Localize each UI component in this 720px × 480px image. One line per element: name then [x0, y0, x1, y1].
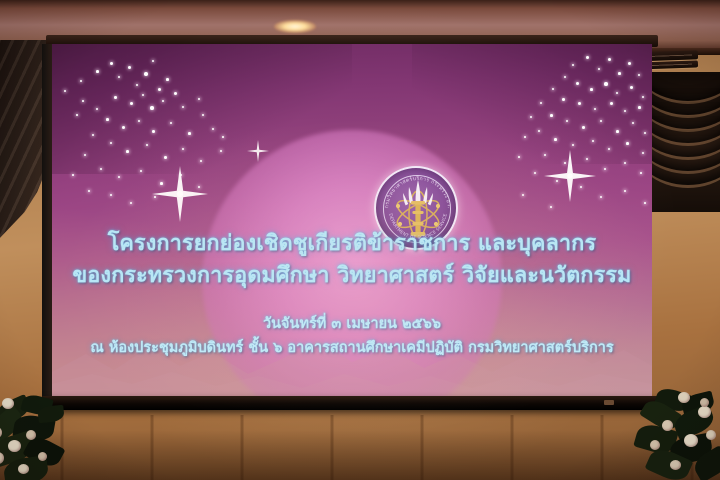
curtain-right: [644, 72, 720, 212]
slide-title-line-1: โครงการยกย่องเชิดชูเกียรติข้าราชการ และบ…: [52, 226, 652, 260]
slide-subtitle-venue: ณ ห้องประชุมภูมิบดินทร์ ชั้น ๖ อาคารสถาน…: [52, 336, 652, 359]
swag-fold-7: [644, 130, 720, 188]
big-star-right: [544, 150, 596, 202]
bouquet-right: [636, 390, 720, 480]
downlight-left: [274, 20, 316, 33]
slide-subtitle-date: วันจันทร์ที่ ๓ เมษายน ๒๕๖๖: [52, 312, 652, 335]
screen-left-frame: [42, 44, 52, 400]
wall-base-shadow: [0, 430, 720, 480]
slide-title-line-2: ของกระทรวงการอุดมศึกษา วิทยาศาสตร์ วิจัย…: [52, 258, 652, 292]
svg-text:กรมวิทยาศาสตร์บริการ กระทรวง อ: กรมวิทยาศาสตร์บริการ กระทรวง อว.: [384, 175, 452, 209]
big-star-left: [152, 166, 208, 222]
conference-room-scene: กรมวิทยาศาสตร์บริการ กระทรวง อว. DEPARTM…: [0, 0, 720, 480]
small-star-left: [247, 140, 269, 162]
title-slide: กรมวิทยาศาสตร์บริการ กระทรวง อว. DEPARTM…: [52, 44, 652, 398]
screen-bottom-bar: [42, 396, 662, 410]
bouquet-left: [0, 396, 106, 480]
slide-corner-shade-right: [412, 44, 652, 164]
projection-screen: กรมวิทยาศาสตร์บริการ กระทรวง อว. DEPARTM…: [52, 44, 652, 406]
